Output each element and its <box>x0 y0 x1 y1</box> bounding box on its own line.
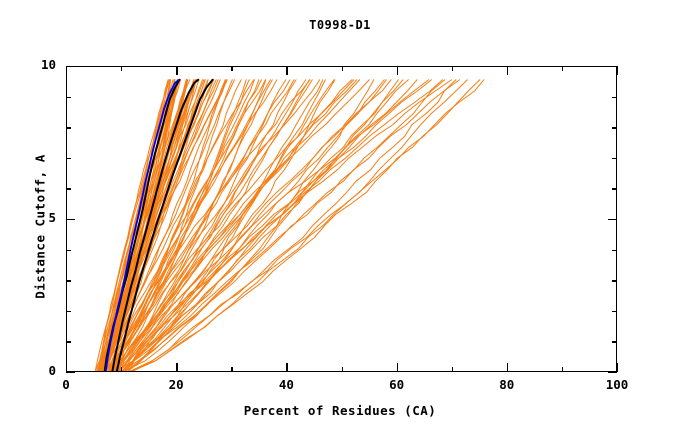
y-major-tick <box>66 219 75 220</box>
y-minor-tick <box>66 250 71 251</box>
x-axis-title: Percent of Residues (CA) <box>0 403 680 418</box>
x-minor-tick-top <box>452 66 453 71</box>
x-minor-tick <box>121 367 122 372</box>
y-tick-label: 0 <box>26 363 56 378</box>
y-minor-tick-right <box>612 250 617 251</box>
plot-area <box>66 66 617 372</box>
y-minor-tick-right <box>612 341 617 342</box>
y-major-tick-right <box>608 372 617 373</box>
x-major-tick-top <box>176 66 177 75</box>
x-tick-label: 20 <box>146 377 206 392</box>
y-minor-tick <box>66 127 71 128</box>
x-minor-tick-top <box>121 66 122 71</box>
chart-title: T0998-D1 <box>0 18 680 32</box>
y-minor-tick <box>66 188 71 189</box>
y-minor-tick <box>66 311 71 312</box>
y-major-tick-right <box>608 219 617 220</box>
y-axis-title: Distance Cutoff, A <box>33 107 48 347</box>
x-major-tick-top <box>507 66 508 75</box>
y-minor-tick <box>66 97 71 98</box>
y-minor-tick-right <box>612 127 617 128</box>
x-major-tick <box>617 363 618 372</box>
x-major-tick <box>286 363 287 372</box>
x-minor-tick-top <box>342 66 343 71</box>
x-tick-label: 60 <box>367 377 427 392</box>
y-minor-tick <box>66 158 71 159</box>
y-tick-label: 10 <box>26 57 56 72</box>
x-minor-tick <box>452 367 453 372</box>
x-major-tick-top <box>617 66 618 75</box>
y-minor-tick-right <box>612 311 617 312</box>
x-major-tick-top <box>397 66 398 75</box>
y-minor-tick-right <box>612 97 617 98</box>
x-major-tick <box>66 363 67 372</box>
plot-svg <box>66 66 617 372</box>
y-minor-tick-right <box>612 158 617 159</box>
x-minor-tick-top <box>562 66 563 71</box>
y-minor-tick <box>66 341 71 342</box>
x-tick-label: 100 <box>587 377 647 392</box>
x-minor-tick <box>231 367 232 372</box>
x-minor-tick <box>342 367 343 372</box>
x-minor-tick-top <box>231 66 232 71</box>
x-major-tick <box>507 363 508 372</box>
x-tick-label: 40 <box>256 377 316 392</box>
y-major-tick-right <box>608 66 617 67</box>
x-major-tick-top <box>286 66 287 75</box>
y-minor-tick-right <box>612 188 617 189</box>
y-minor-tick-right <box>612 280 617 281</box>
y-major-tick <box>66 66 75 67</box>
x-tick-label: 80 <box>477 377 537 392</box>
y-major-tick <box>66 372 75 373</box>
x-tick-label: 0 <box>36 377 96 392</box>
x-major-tick <box>397 363 398 372</box>
x-minor-tick <box>562 367 563 372</box>
prediction-curves-group <box>95 80 484 372</box>
y-minor-tick <box>66 280 71 281</box>
x-major-tick <box>176 363 177 372</box>
chart-root: T0998-D1 020406080100 0510 Percent of Re… <box>0 0 680 440</box>
